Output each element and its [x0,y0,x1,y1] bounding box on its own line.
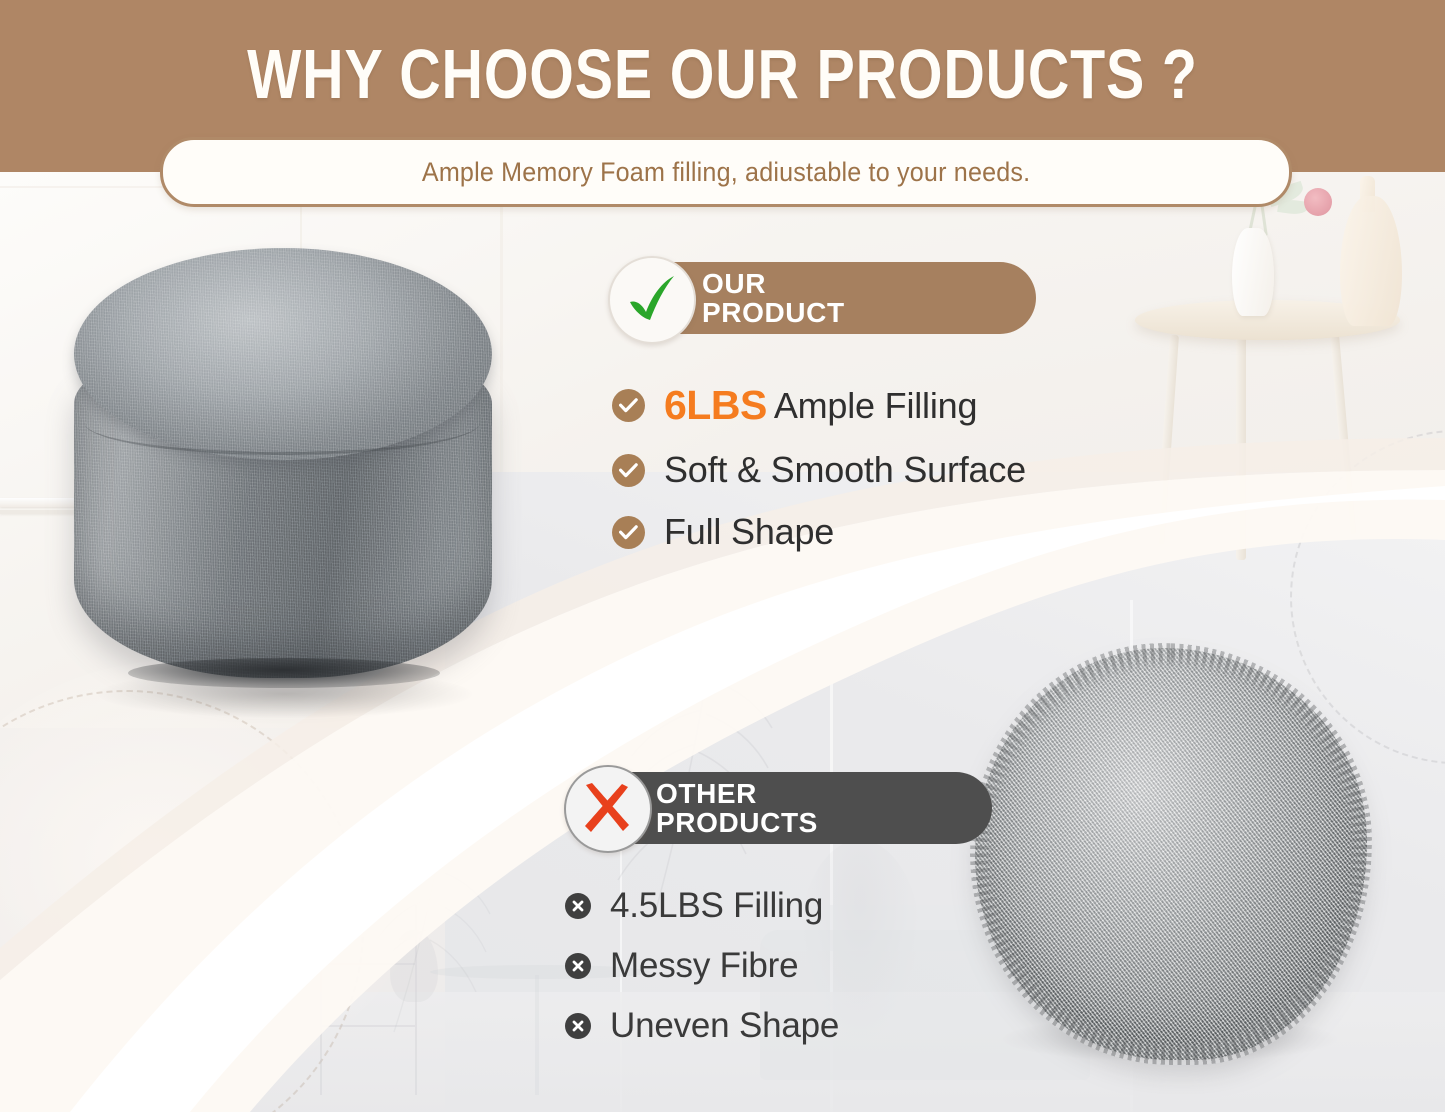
check-icon [612,516,645,549]
badge-line-1: OUR [702,268,766,299]
badge-line-1: OTHER [656,778,757,809]
feature-label: Full Shape [664,511,834,553]
other-product-image [975,648,1367,1060]
our-product-feature-list: 6LBS Ample Filling Soft & Smooth Surface… [612,382,1026,553]
other-products-feature-list: 4.5LBS Filling Messy Fibre Uneven Shape [565,886,839,1046]
our-product-badge: OUR PRODUCT [618,262,1036,334]
badge-line-2: PRODUCT [702,298,845,327]
badge-line-2: PRODUCTS [656,808,818,837]
list-item: Full Shape [612,511,1026,553]
list-item: Messy Fibre [565,946,839,986]
feature-label: 4.5LBS Filling [610,886,823,926]
subtitle-text: Ample Memory Foam filling, adiustable to… [422,157,1030,188]
green-check-icon-glyph [624,274,680,326]
red-cross-icon [564,765,652,853]
feature-highlight: 6LBS [664,382,767,429]
feature-label: Messy Fibre [610,946,798,986]
page-title: WHY CHOOSE OUR PRODUCTS ? [130,34,1315,114]
other-products-badge: OTHER PRODUCTS [572,772,992,844]
cross-icon [565,893,591,919]
our-product-badge-label: OUR PRODUCT [686,269,845,327]
check-icon [612,454,645,487]
check-icon [612,389,645,422]
list-item: Soft & Smooth Surface [612,449,1026,491]
other-products-badge-label: OTHER PRODUCTS [640,779,818,837]
green-check-icon [608,256,696,344]
product-comparison-infographic: WHY CHOOSE OUR PRODUCTS ? Ample Memory F… [0,0,1445,1112]
feature-label: Ample Filling [774,385,977,427]
list-item: 6LBS Ample Filling [612,382,1026,429]
our-product-image [68,240,498,710]
cross-icon [565,1013,591,1039]
list-item: 4.5LBS Filling [565,886,839,926]
feature-label: Soft & Smooth Surface [664,449,1026,491]
red-cross-icon-glyph [579,781,637,837]
subtitle-pill: Ample Memory Foam filling, adiustable to… [160,137,1292,207]
cross-icon [565,953,591,979]
list-item: Uneven Shape [565,1006,839,1046]
feature-label: Uneven Shape [610,1006,839,1046]
